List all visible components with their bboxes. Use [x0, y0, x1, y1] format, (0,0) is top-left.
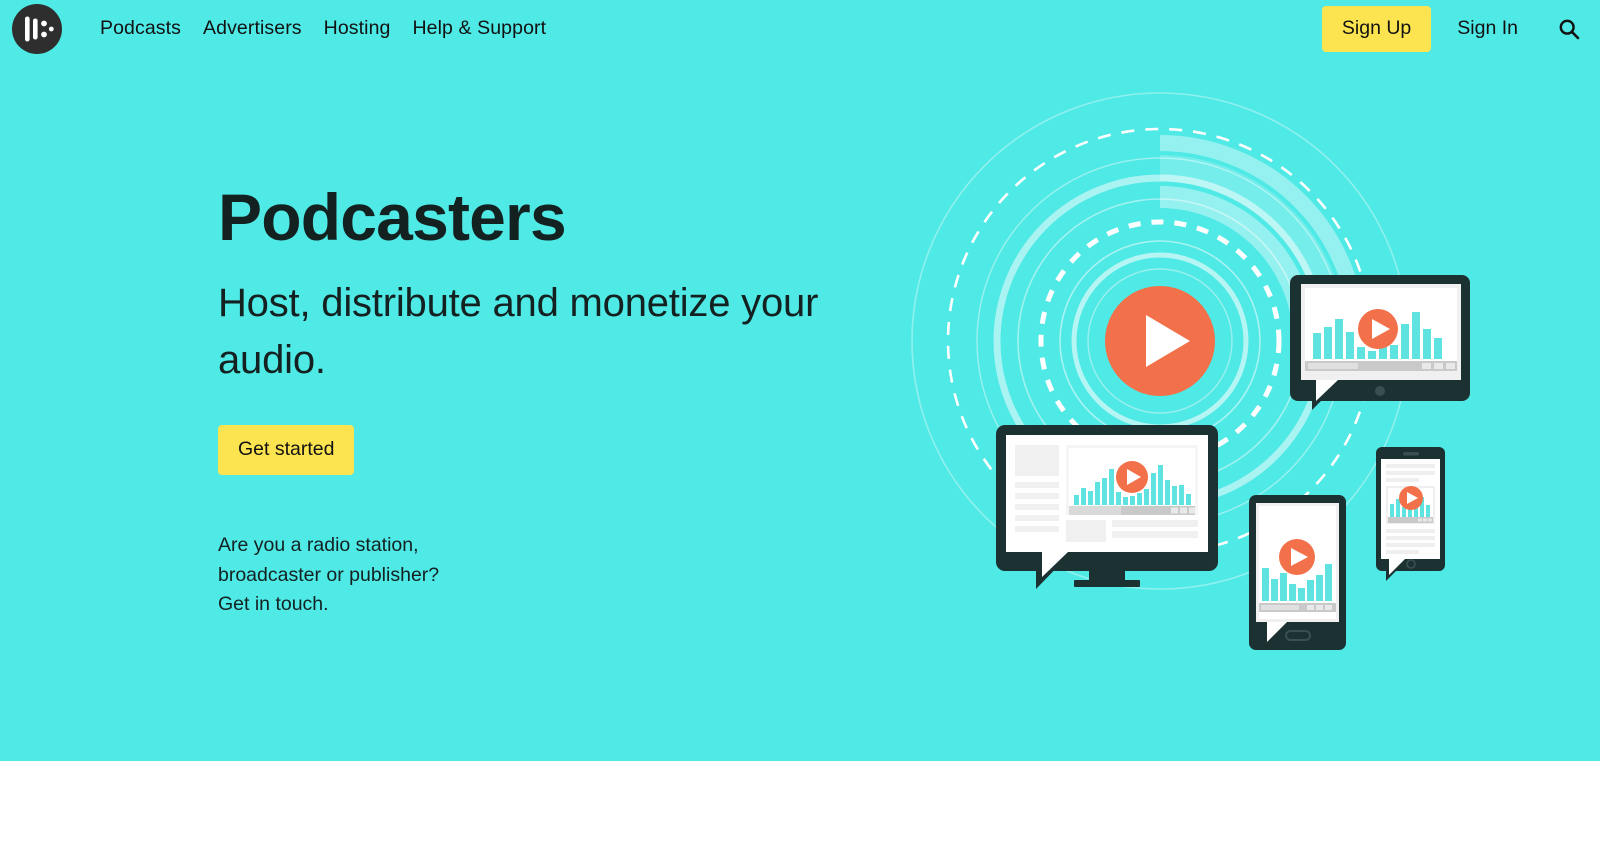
nav-link-help-support[interactable]: Help & Support — [412, 19, 546, 39]
search-button[interactable] — [1556, 16, 1582, 42]
get-started-button[interactable]: Get started — [218, 425, 354, 476]
top-navigation-bar: Podcasts Advertisers Hosting Help & Supp… — [0, 0, 1600, 58]
hero-section: Podcasters Host, distribute and monetize… — [0, 0, 1600, 761]
hero-note-line-1: Are you a radio station, — [218, 531, 918, 561]
hero-copy: Podcasters Host, distribute and monetize… — [218, 182, 918, 620]
sign-up-button[interactable]: Sign Up — [1322, 6, 1431, 53]
hero-subtitle: Host, distribute and monetize your audio… — [218, 275, 858, 389]
search-icon — [1557, 17, 1581, 41]
sign-in-link[interactable]: Sign In — [1457, 19, 1518, 39]
nav-actions: Sign Up Sign In — [1322, 6, 1600, 53]
center-play-button — [1105, 286, 1215, 396]
page-title: Podcasters — [218, 182, 918, 253]
nav-link-hosting[interactable]: Hosting — [324, 19, 391, 39]
hero-note-line-2: broadcaster or publisher? — [218, 561, 918, 591]
phone-small-device — [1376, 447, 1445, 581]
nav-link-podcasts[interactable]: Podcasts — [100, 19, 181, 39]
page-root: Podcasters Host, distribute and monetize… — [0, 0, 1600, 852]
nav-link-advertisers[interactable]: Advertisers — [203, 19, 302, 39]
hero-note: Are you a radio station, broadcaster or … — [218, 531, 918, 620]
primary-nav-links: Podcasts Advertisers Hosting Help & Supp… — [100, 19, 546, 39]
desktop-monitor-device — [996, 425, 1218, 589]
audioboom-logo[interactable] — [12, 4, 62, 54]
hero-note-line-3: Get in touch. — [218, 590, 918, 620]
phone-portrait-device — [1249, 495, 1346, 650]
tablet-landscape-device — [1290, 275, 1470, 410]
hero-subtitle-line-1: Host, distribute and monetize — [218, 281, 730, 325]
multi-device-podcast-illustration — [880, 70, 1500, 690]
